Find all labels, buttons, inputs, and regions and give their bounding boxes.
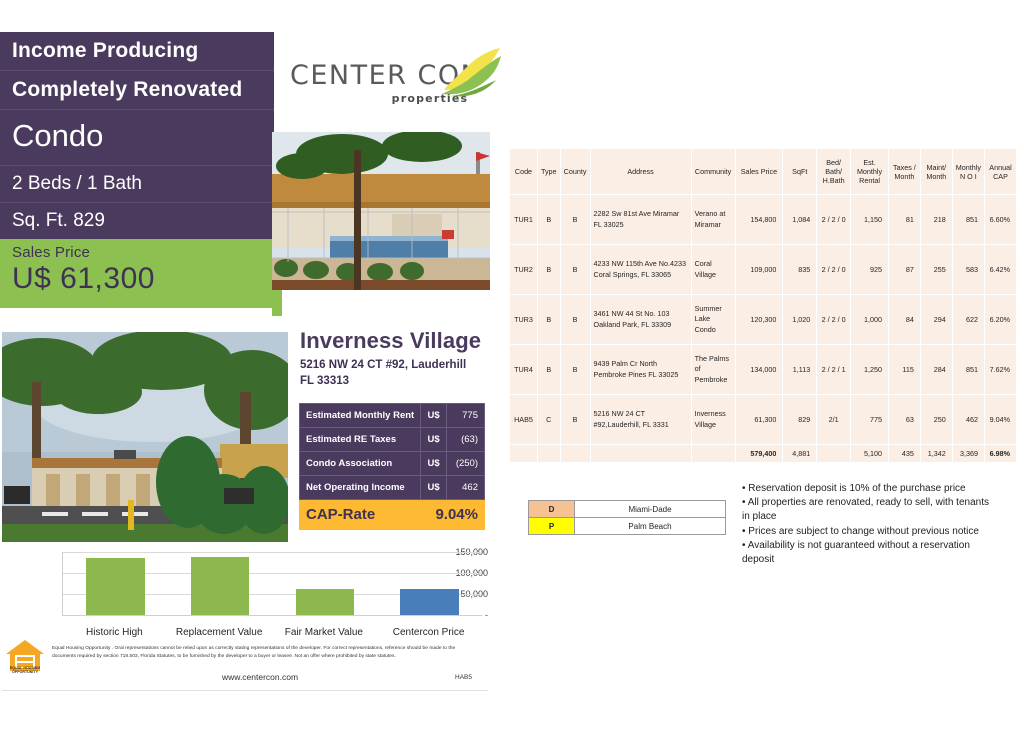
financial-label: Estimated Monthly Rent: [300, 404, 421, 428]
financial-value: 775: [446, 404, 484, 428]
cell-noi: 851: [952, 195, 984, 245]
cell-address: 9439 Palm Cr North Pembroke Pines FL 330…: [590, 345, 691, 395]
financial-row: Condo Association U$ (250): [300, 452, 485, 476]
chart-xtick: Historic High: [62, 627, 167, 638]
totals-rental: 5,100: [851, 445, 889, 463]
cell-address: 4233 NW 115th Ave No.4233 Coral Springs,…: [590, 245, 691, 295]
county-legend-body: D Miami-Dade P Palm Beach: [529, 501, 726, 535]
cell-community: Inverness Village: [691, 395, 735, 445]
cell-county: B: [560, 195, 590, 245]
property-table-header-row: Code Type County Address Community Sales…: [510, 149, 1017, 195]
cell-type: C: [537, 395, 560, 445]
cell-taxes: 87: [888, 245, 920, 295]
totals-county: [560, 445, 590, 463]
financial-row: Estimated RE Taxes U$ (63): [300, 428, 485, 452]
totals-bed-bath: [817, 445, 851, 463]
hero-square-feet: Sq. Ft. 829: [0, 203, 274, 239]
note-item: • All properties are renovated, ready to…: [742, 496, 998, 524]
cell-community: Coral Village: [691, 245, 735, 295]
cell-bed-bath: 2/1: [817, 395, 851, 445]
hero-highlight-stack: Income Producing Completely Renovated Co…: [0, 32, 274, 308]
cap-rate-value: 9.04%: [421, 500, 485, 530]
legend-row-palm-beach: P Palm Beach: [529, 518, 726, 535]
cell-rental: 1,250: [851, 345, 889, 395]
col-rental: Est. Monthly Rental: [851, 149, 889, 195]
col-bed-bath: Bed/ Bath/ H.Bath: [817, 149, 851, 195]
note-item: • Reservation deposit is 10% of the purc…: [742, 482, 998, 496]
cell-cap: 6.60%: [984, 195, 1016, 245]
cell-noi: 583: [952, 245, 984, 295]
col-sqft: SqFt: [783, 149, 817, 195]
col-taxes: Taxes / Month: [888, 149, 920, 195]
totals-sqft: 4,881: [783, 445, 817, 463]
cell-noi: 622: [952, 295, 984, 345]
financial-label: Net Operating Income: [300, 476, 421, 500]
cell-bed-bath: 2 / 2 / 1: [817, 345, 851, 395]
cell-noi: 462: [952, 395, 984, 445]
flyer-page: Income Producing Completely Renovated Co…: [0, 0, 1024, 733]
hero-price-label: Sales Price: [12, 244, 264, 261]
cell-rental: 925: [851, 245, 889, 295]
cell-type: B: [537, 345, 560, 395]
financial-row: Net Operating Income U$ 462: [300, 476, 485, 500]
leaf-swoosh-icon: [440, 46, 502, 98]
cell-code: HAB5: [510, 395, 538, 445]
table-totals-row: 579,400 4,881 5,100 435 1,342 3,369 6.98…: [510, 445, 1017, 463]
property-table-head: Code Type County Address Community Sales…: [510, 149, 1017, 195]
cell-county: B: [560, 245, 590, 295]
financial-value: 462: [446, 476, 484, 500]
cell-community: Summer Lake Condo: [691, 295, 735, 345]
table-row: HAB5 C B 5216 NW 24 CT #92,Lauderhill, F…: [510, 395, 1017, 445]
hero-price-block: Sales Price U$ 61,300: [0, 239, 274, 308]
listing-address: 5216 NW 24 CT #92, Lauderhill FL 33313: [300, 358, 466, 389]
totals-address: [590, 445, 691, 463]
financial-summary-table: Estimated Monthly Rent U$ 775 Estimated …: [299, 403, 485, 530]
col-code: Code: [510, 149, 538, 195]
col-noi: Monthly N O I: [952, 149, 984, 195]
col-maint: Maint/ Month: [920, 149, 952, 195]
financial-currency: U$: [421, 452, 447, 476]
page-code: HAB5: [455, 674, 472, 681]
financial-label: Condo Association: [300, 452, 421, 476]
cell-type: B: [537, 295, 560, 345]
cell-community: The Palms of Pembroke: [691, 345, 735, 395]
cell-code: TUR4: [510, 345, 538, 395]
chart-bar: [296, 589, 355, 615]
table-row: TUR3 B B 3461 NW 44 St No. 103 Oakland P…: [510, 295, 1017, 345]
cell-sales-price: 61,300: [735, 395, 783, 445]
cell-sqft: 1,020: [783, 295, 817, 345]
cell-taxes: 115: [888, 345, 920, 395]
cap-rate-label: CAP-Rate: [300, 500, 421, 530]
col-sales-price: Sales Price: [735, 149, 783, 195]
cell-type: B: [537, 195, 560, 245]
property-photo-pool: [272, 132, 490, 290]
cap-rate-row: CAP-Rate 9.04%: [300, 500, 485, 530]
listing-address-line1: 5216 NW 24 CT #92, Lauderhill: [300, 358, 466, 374]
table-row: TUR1 B B 2282 Sw 81st Ave Miramar FL 330…: [510, 195, 1017, 245]
note-item: • Availability is not guaranteed without…: [742, 539, 998, 567]
col-address: Address: [590, 149, 691, 195]
cell-code: TUR1: [510, 195, 538, 245]
cell-sqft: 1,084: [783, 195, 817, 245]
cell-code: TUR3: [510, 295, 538, 345]
cell-sales-price: 134,000: [735, 345, 783, 395]
totals-noi: 3,369: [952, 445, 984, 463]
eho-caption: EQUAL HOUSING OPPORTUNITY: [4, 666, 46, 675]
table-row: TUR4 B B 9439 Palm Cr North Pembroke Pin…: [510, 345, 1017, 395]
cell-taxes: 63: [888, 395, 920, 445]
financial-currency: U$: [421, 404, 447, 428]
valuation-bar-chart: 150,000 100,000 50,000 - Historic High R…: [2, 548, 488, 640]
hero-tagline-renovated: Completely Renovated: [0, 71, 274, 110]
cell-sales-price: 120,300: [735, 295, 783, 345]
hero-beds-baths: 2 Beds / 1 Bath: [0, 166, 274, 203]
totals-sales-price: 579,400: [735, 445, 783, 463]
cell-maint: 218: [920, 195, 952, 245]
hero-tagline-income: Income Producing: [0, 32, 274, 71]
chart-bar: [86, 558, 145, 615]
totals-cap: 6.98%: [984, 445, 1016, 463]
chart-plot-area: [62, 552, 482, 616]
cell-maint: 294: [920, 295, 952, 345]
cell-sqft: 835: [783, 245, 817, 295]
cell-cap: 7.62%: [984, 345, 1016, 395]
website-url[interactable]: www.centercon.com: [222, 672, 298, 682]
legal-disclaimer: Equal Housing Opportunity . Oral represe…: [52, 645, 476, 662]
property-inventory-table: Code Type County Address Community Sales…: [509, 148, 1017, 463]
totals-community: [691, 445, 735, 463]
cell-cap: 6.20%: [984, 295, 1016, 345]
cell-county: B: [560, 295, 590, 345]
cell-address: 5216 NW 24 CT #92,Lauderhill, FL 3331: [590, 395, 691, 445]
cell-taxes: 84: [888, 295, 920, 345]
cell-cap: 6.42%: [984, 245, 1016, 295]
financial-row: Estimated Monthly Rent U$ 775: [300, 404, 485, 428]
chart-xtick: Fair Market Value: [272, 627, 377, 638]
cell-rental: 775: [851, 395, 889, 445]
listing-community-title: Inverness Village: [300, 328, 481, 354]
note-item: • Prices are subject to change without p…: [742, 525, 998, 539]
financial-summary-body: Estimated Monthly Rent U$ 775 Estimated …: [300, 404, 485, 530]
totals-type: [537, 445, 560, 463]
totals-taxes: 435: [888, 445, 920, 463]
cell-sales-price: 154,800: [735, 195, 783, 245]
table-row: TUR2 B B 4233 NW 115th Ave No.4233 Coral…: [510, 245, 1017, 295]
cell-address: 2282 Sw 81st Ave Miramar FL 33025: [590, 195, 691, 245]
cell-bed-bath: 2 / 2 / 0: [817, 245, 851, 295]
cell-cap: 9.04%: [984, 395, 1016, 445]
centercon-logo: CENTER CON properties: [290, 50, 495, 112]
county-legend-table: D Miami-Dade P Palm Beach: [528, 500, 726, 535]
cell-bed-bath: 2 / 2 / 0: [817, 195, 851, 245]
cell-code: TUR2: [510, 245, 538, 295]
chart-xtick: Centercon Price: [376, 627, 481, 638]
totals-maint: 1,342: [920, 445, 952, 463]
chart-bar: [400, 589, 459, 615]
legend-name-dade: Miami-Dade: [575, 501, 726, 518]
cell-community: Verano at Miramar: [691, 195, 735, 245]
financial-value: (250): [446, 452, 484, 476]
hero-property-type: Condo: [0, 110, 274, 166]
col-county: County: [560, 149, 590, 195]
cell-sqft: 829: [783, 395, 817, 445]
totals-code: [510, 445, 538, 463]
footer-divider: [2, 690, 488, 691]
cell-taxes: 81: [888, 195, 920, 245]
cell-county: B: [560, 395, 590, 445]
cell-rental: 1,000: [851, 295, 889, 345]
financial-value: (63): [446, 428, 484, 452]
financial-currency: U$: [421, 476, 447, 500]
cell-maint: 284: [920, 345, 952, 395]
financial-label: Estimated RE Taxes: [300, 428, 421, 452]
listing-address-line2: FL 33313: [300, 374, 466, 390]
chart-bar: [191, 557, 250, 615]
legend-key-d: D: [529, 501, 575, 518]
chart-xtick: Replacement Value: [167, 627, 272, 638]
col-community: Community: [691, 149, 735, 195]
cell-noi: 851: [952, 345, 984, 395]
legend-key-p: P: [529, 518, 575, 535]
chart-gridline: [63, 552, 482, 553]
cell-type: B: [537, 245, 560, 295]
hero-price-value: U$ 61,300: [12, 262, 264, 296]
cell-maint: 250: [920, 395, 952, 445]
property-table-body: TUR1 B B 2282 Sw 81st Ave Miramar FL 330…: [510, 195, 1017, 463]
legend-name-palm-beach: Palm Beach: [575, 518, 726, 535]
legend-row-dade: D Miami-Dade: [529, 501, 726, 518]
property-photo-building: [2, 332, 288, 542]
cell-rental: 1,150: [851, 195, 889, 245]
terms-notes-list: • Reservation deposit is 10% of the purc…: [742, 482, 998, 567]
cell-sqft: 1,113: [783, 345, 817, 395]
col-type: Type: [537, 149, 560, 195]
green-accent-tab: [272, 290, 282, 316]
cell-bed-bath: 2 / 2 / 0: [817, 295, 851, 345]
col-cap: Annual CAP: [984, 149, 1016, 195]
cell-county: B: [560, 345, 590, 395]
cell-sales-price: 109,000: [735, 245, 783, 295]
cell-maint: 255: [920, 245, 952, 295]
financial-currency: U$: [421, 428, 447, 452]
cell-address: 3461 NW 44 St No. 103 Oakland Park, FL 3…: [590, 295, 691, 345]
